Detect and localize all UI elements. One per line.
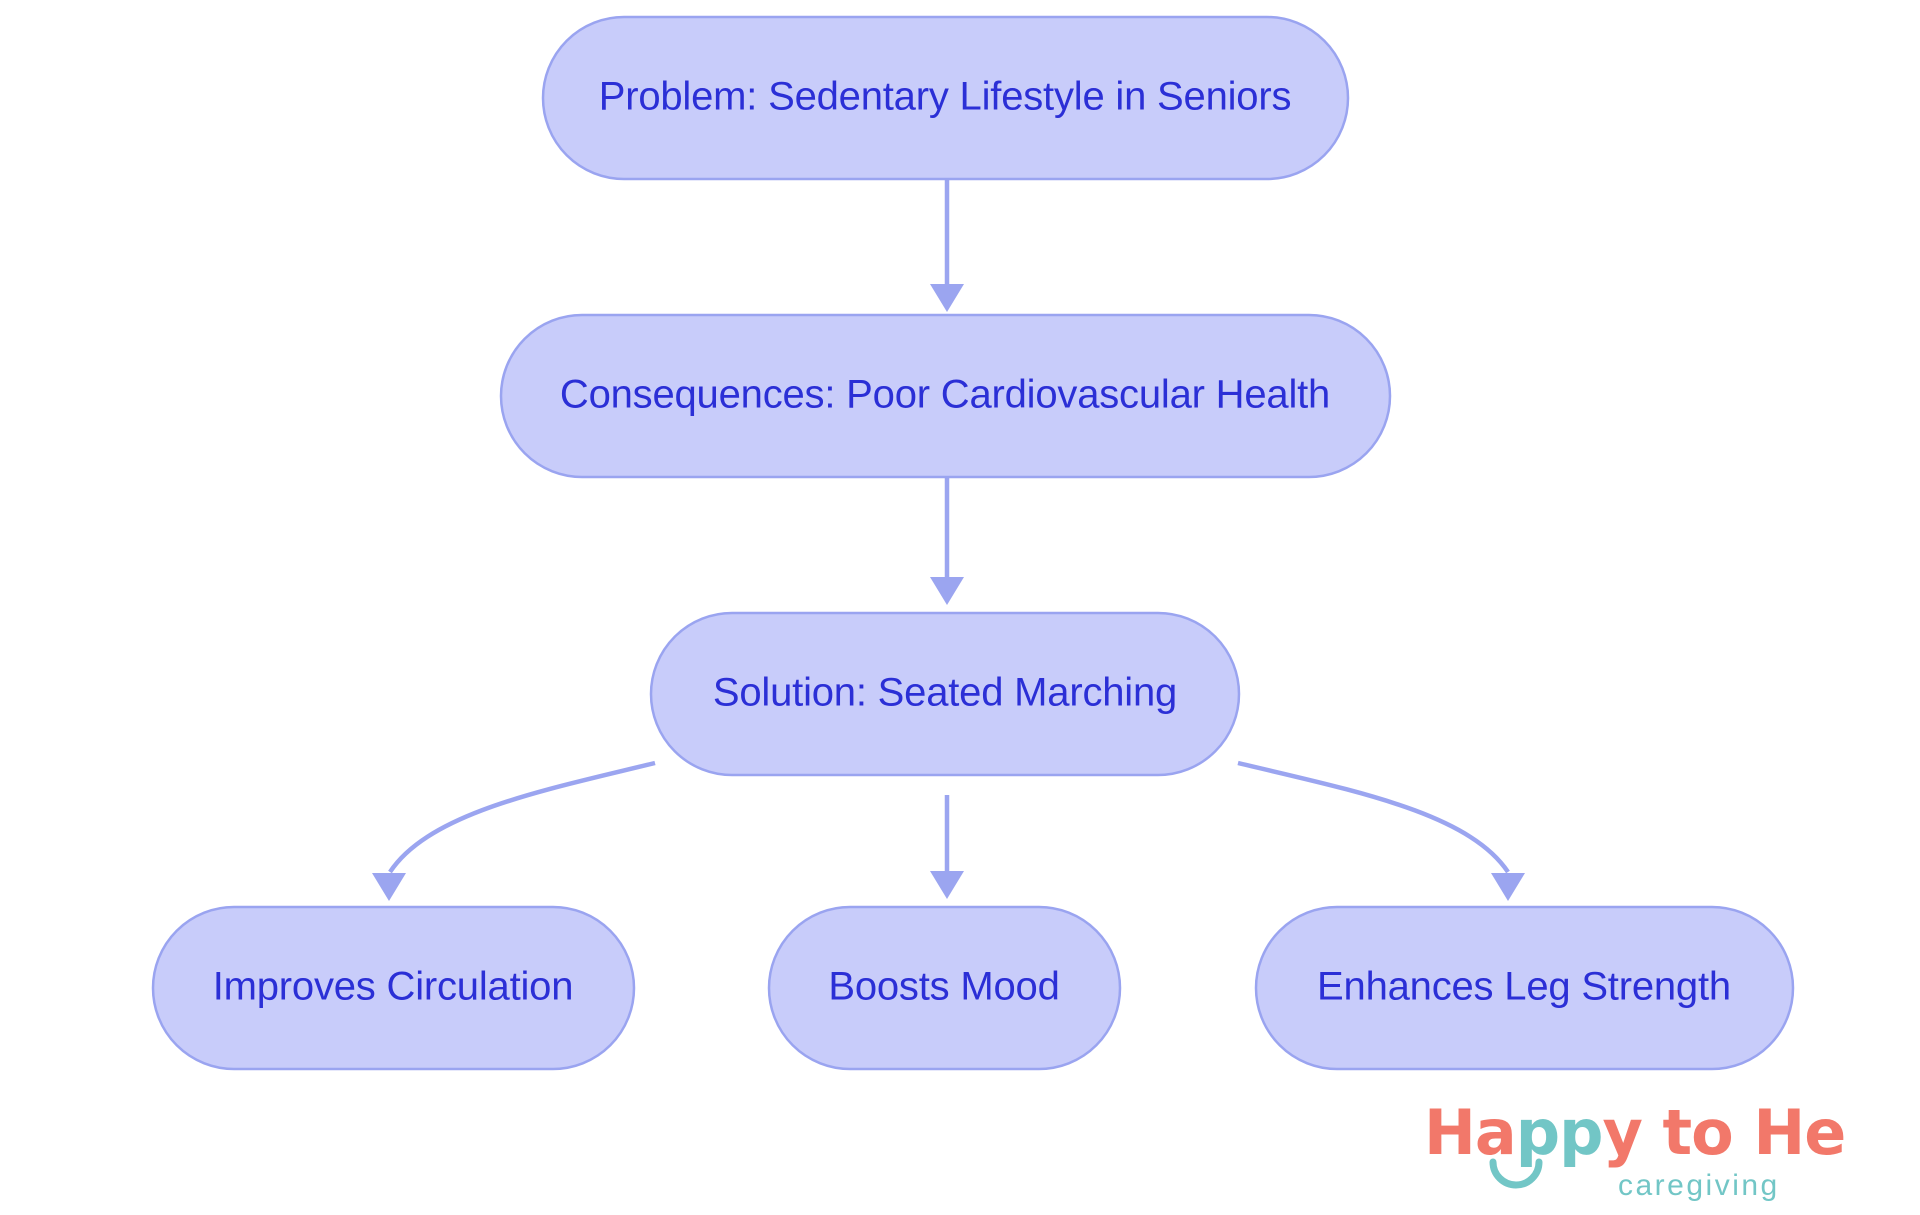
node-consequences-label: Consequences: Poor Cardiovascular Health — [560, 373, 1330, 417]
node-circulation-label: Improves Circulation — [213, 965, 574, 1009]
edge-consequences-to-solution — [930, 470, 964, 605]
edge-solution-to-legstrength — [1238, 763, 1525, 901]
logo-word-part-1: Ha — [1424, 1096, 1516, 1169]
node-solution[interactable]: Solution: Seated Marching — [651, 613, 1239, 775]
arrowhead-icon — [930, 284, 964, 312]
node-consequences[interactable]: Consequences: Poor Cardiovascular Health — [501, 315, 1390, 477]
node-problem-label: Problem: Sedentary Lifestyle in Seniors — [599, 75, 1292, 119]
logo-word-part-2: pp — [1516, 1096, 1603, 1169]
logo-tagline: caregiving — [1618, 1169, 1780, 1202]
arrowhead-icon — [930, 577, 964, 605]
brand-logo: Happy to Help caregiving — [1424, 1096, 1844, 1204]
logo-wordmark: Happy to Help — [1424, 1096, 1844, 1169]
edge-solution-to-mood — [930, 795, 964, 899]
edge-problem-to-consequences — [930, 178, 964, 312]
arrowhead-icon — [930, 871, 964, 899]
node-solution-label: Solution: Seated Marching — [713, 671, 1177, 715]
edge-line — [390, 763, 655, 872]
logo-word-part-3: y to Help — [1603, 1096, 1845, 1169]
node-legstrength-label: Enhances Leg Strength — [1317, 965, 1731, 1009]
node-circulation[interactable]: Improves Circulation — [153, 907, 634, 1069]
flowchart-canvas: Problem: Sedentary Lifestyle in Seniors … — [0, 0, 1920, 1215]
node-problem[interactable]: Problem: Sedentary Lifestyle in Seniors — [543, 17, 1348, 179]
node-legstrength[interactable]: Enhances Leg Strength — [1256, 907, 1793, 1069]
edge-line — [1238, 763, 1508, 872]
node-mood-label: Boosts Mood — [828, 965, 1059, 1009]
node-mood[interactable]: Boosts Mood — [769, 907, 1120, 1069]
arrowhead-icon — [1491, 873, 1525, 901]
arrowhead-icon — [372, 873, 406, 901]
edge-solution-to-circulation — [372, 763, 655, 901]
